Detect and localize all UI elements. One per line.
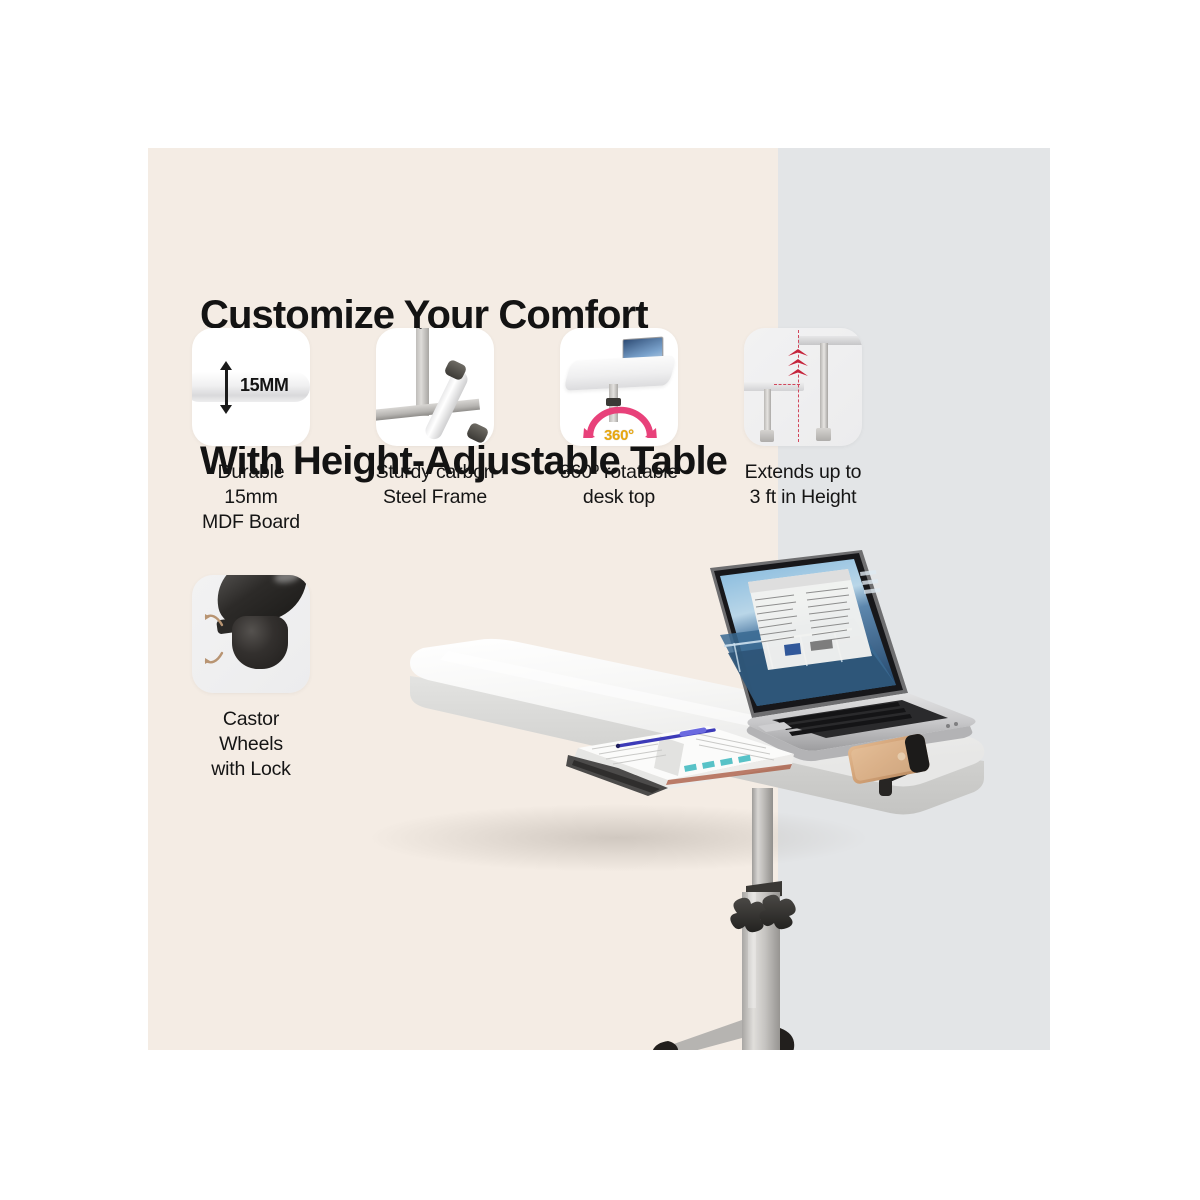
board-thickness-icon: 15MM — [192, 328, 310, 446]
high-column-shape — [820, 343, 828, 431]
thickness-arrow-icon — [225, 369, 228, 406]
feature-label: Sturdy carbon Steel Frame — [376, 460, 495, 510]
feature-label: Castor Wheels with Lock — [190, 707, 312, 782]
up-chevron-icon-3 — [787, 368, 809, 377]
height-guide-line — [798, 330, 799, 442]
feature-steel-frame[interactable]: Sturdy carbon Steel Frame — [374, 328, 496, 535]
rotation-360-icon: 360° — [560, 328, 678, 446]
steel-frame-icon — [376, 328, 494, 446]
up-chevron-icon-2 — [787, 358, 809, 367]
promo-canvas: Customize Your Comfort With Height-Adjus… — [148, 148, 1050, 1050]
mini-desktop-surface — [563, 355, 677, 390]
feature-rotatable-top[interactable]: 360° 360º rotatable desk top — [558, 328, 680, 535]
height-tick-line — [774, 384, 800, 385]
frame-cap-bottom — [465, 422, 489, 445]
rotate-arrow-icon-lower — [204, 651, 224, 665]
feature-list: 15MM Durable 15mm MDF Board Sturdy carbo… — [190, 328, 950, 782]
castor-wheel-icon — [192, 575, 310, 693]
rotate-arrow-icon-upper — [204, 613, 224, 627]
high-foot-shape — [816, 428, 831, 441]
feature-label: 360º rotatable desk top — [560, 460, 678, 510]
thickness-callout: 15MM — [240, 375, 288, 396]
up-chevron-icon-1 — [787, 348, 809, 357]
castor-wheel-shape — [232, 616, 288, 669]
rotation-callout: 360° — [604, 427, 634, 444]
feature-castor-wheels[interactable]: Castor Wheels with Lock — [190, 575, 312, 782]
feature-label: Durable 15mm MDF Board — [190, 460, 312, 535]
low-foot-shape — [760, 430, 774, 442]
feature-height-extend[interactable]: Extends up to 3 ft in Height — [742, 328, 864, 535]
high-desktop-shape — [798, 336, 862, 345]
feature-mdf-board[interactable]: 15MM Durable 15mm MDF Board — [190, 328, 312, 535]
low-column-shape — [764, 389, 771, 433]
feature-label: Extends up to 3 ft in Height — [745, 460, 862, 510]
height-extend-icon — [744, 328, 862, 446]
frame-post-shape — [416, 328, 429, 416]
